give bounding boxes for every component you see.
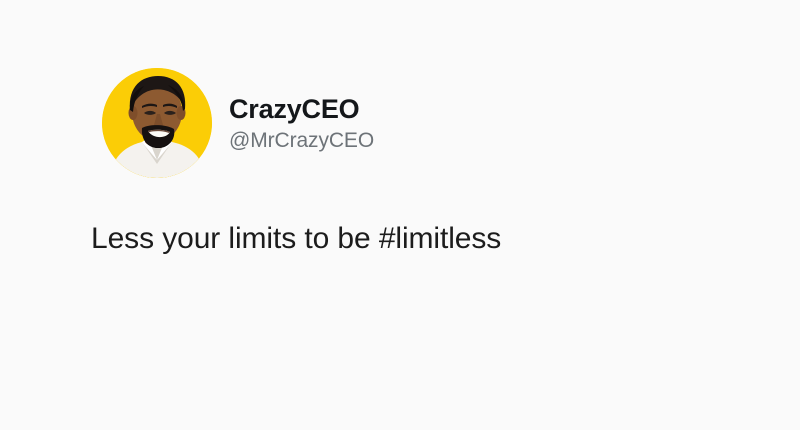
tweet-text: Less your limits to be #limitless <box>91 219 731 260</box>
author-identity: CrazyCEO @MrCrazyCEO <box>229 94 374 153</box>
avatar[interactable] <box>102 68 212 178</box>
profile-photo-avatar-icon <box>102 68 212 178</box>
tweet-card: CrazyCEO @MrCrazyCEO Less your limits to… <box>0 0 800 430</box>
handle[interactable]: @MrCrazyCEO <box>229 129 374 153</box>
tweet-header: CrazyCEO @MrCrazyCEO <box>102 68 374 178</box>
display-name[interactable]: CrazyCEO <box>229 94 374 124</box>
